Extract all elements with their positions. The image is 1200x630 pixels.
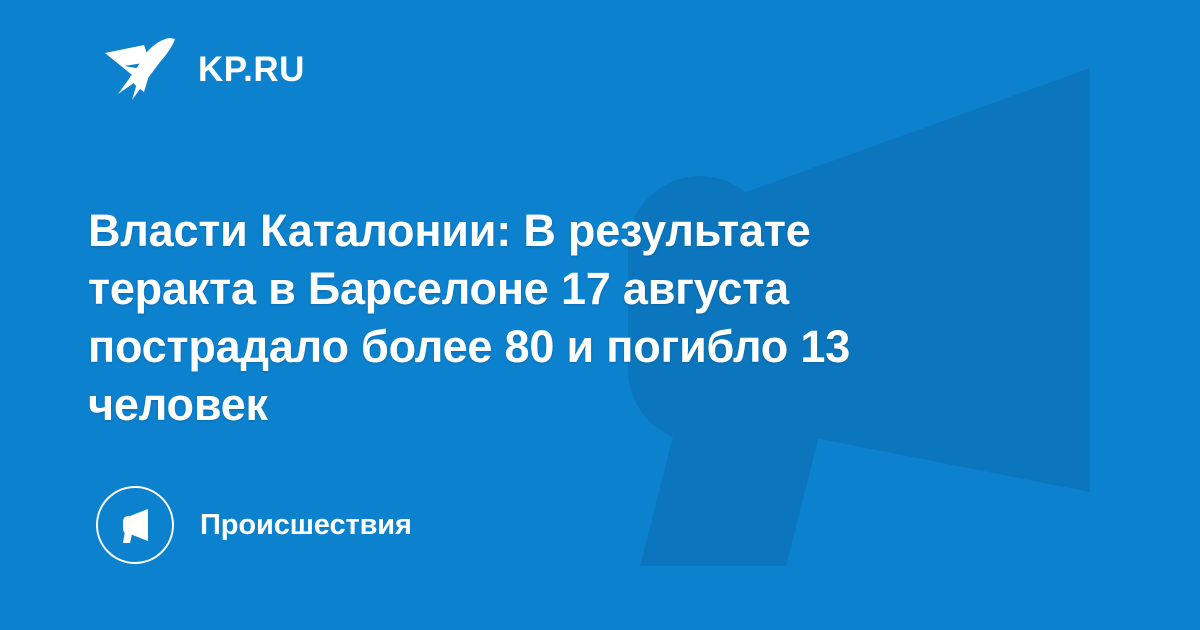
news-share-card: KP.RU Власти Каталонии: В результате тер… <box>0 0 1200 630</box>
headline-line-4: человек <box>88 376 968 434</box>
swallow-bird-icon <box>104 36 176 102</box>
megaphone-icon <box>96 486 174 564</box>
category-label: Происшествия <box>200 511 412 540</box>
category-badge-group[interactable]: Происшествия <box>96 486 412 564</box>
brand-name: KP.RU <box>198 52 305 87</box>
brand-logo[interactable]: KP.RU <box>104 36 305 102</box>
headline-line-1: Власти Каталонии: В результате <box>88 202 968 260</box>
headline-line-3: пострадало более 80 и погибло 13 <box>88 318 968 376</box>
page-title: Власти Каталонии: В результате теракта в… <box>88 202 968 434</box>
headline-line-2: теракта в Барселоне 17 августа <box>88 260 968 318</box>
